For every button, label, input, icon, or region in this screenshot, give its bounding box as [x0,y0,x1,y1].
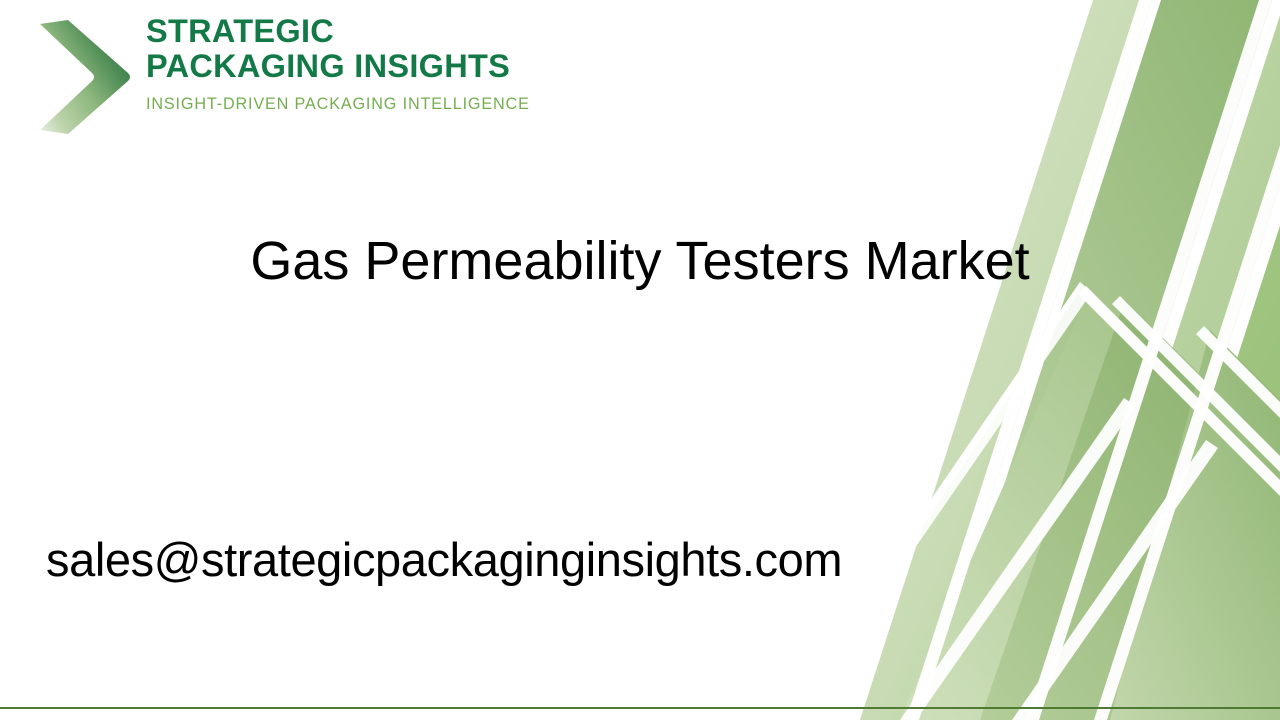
brand-logo: STRATEGIC PACKAGING INSIGHTS INSIGHT-DRI… [38,14,558,138]
logo-line-2: PACKAGING INSIGHTS [146,49,558,84]
decorative-diagonal-pattern [780,0,1280,720]
presentation-slide: STRATEGIC PACKAGING INSIGHTS INSIGHT-DRI… [0,0,1280,720]
bottom-rule-divider [0,707,1280,709]
logo-tagline: INSIGHT-DRIVEN PACKAGING INTELLIGENCE [146,95,558,114]
chevron-right-icon [38,18,130,136]
logo-line-1: STRATEGIC [146,14,558,49]
logo-wordmark: STRATEGIC PACKAGING INSIGHTS INSIGHT-DRI… [146,14,558,114]
contact-email: sales@strategicpackaginginsights.com [46,529,842,591]
page-title: Gas Permeability Testers Market [140,236,1140,287]
